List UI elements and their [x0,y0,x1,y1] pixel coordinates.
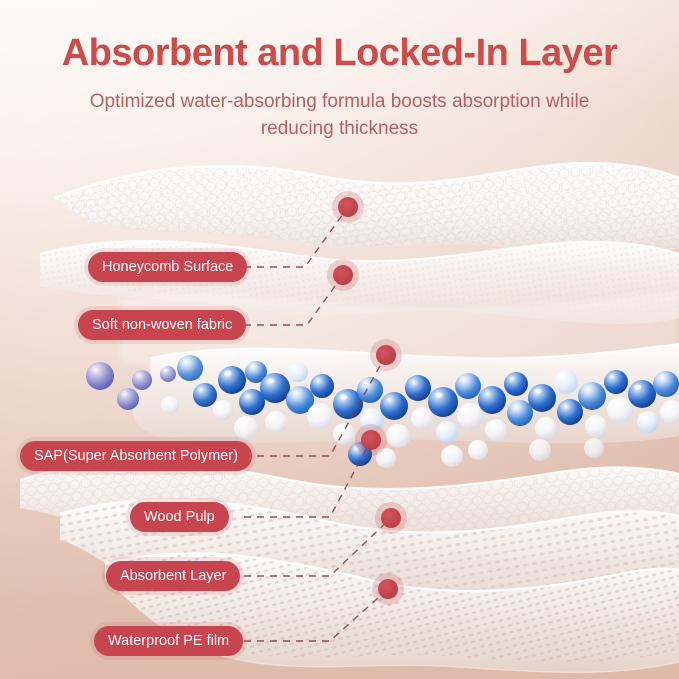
callout-waterproof-pe-film[interactable]: Waterproof PE film [94,626,243,656]
page-subtitle: Optimized water-absorbing formula boosts… [0,88,679,143]
marker-dot-soft-non-woven[interactable] [333,265,353,285]
callout-soft-non-woven[interactable]: Soft non-woven fabric [78,310,246,340]
marker-dot-absorbent-layer[interactable] [381,508,401,528]
page-title: Absorbent and Locked-In Layer [0,34,679,74]
marker-dot-honeycomb-surface[interactable] [338,197,358,217]
callout-label-honeycomb-surface: Honeycomb Surface [88,252,247,282]
callout-label-wood-pulp: Wood Pulp [130,502,229,532]
callout-sap[interactable]: SAP(Super Absorbent Polymer) [20,441,252,471]
marker-dot-sap[interactable] [376,345,396,365]
callout-label-soft-non-woven: Soft non-woven fabric [78,310,246,340]
infographic-canvas: Absorbent and Locked-In Layer Optimized … [0,0,679,679]
marker-dot-wood-pulp[interactable] [361,430,381,450]
callout-absorbent-layer[interactable]: Absorbent Layer [106,561,240,591]
layer-illustration [0,150,679,679]
callout-label-waterproof-pe-film: Waterproof PE film [94,626,243,656]
callout-honeycomb-surface[interactable]: Honeycomb Surface [88,252,247,282]
callout-wood-pulp[interactable]: Wood Pulp [130,502,229,532]
callout-label-absorbent-layer: Absorbent Layer [106,561,240,591]
header: Absorbent and Locked-In Layer Optimized … [0,34,679,143]
callout-label-sap: SAP(Super Absorbent Polymer) [20,441,252,471]
marker-dot-waterproof-pe-film[interactable] [378,579,398,599]
